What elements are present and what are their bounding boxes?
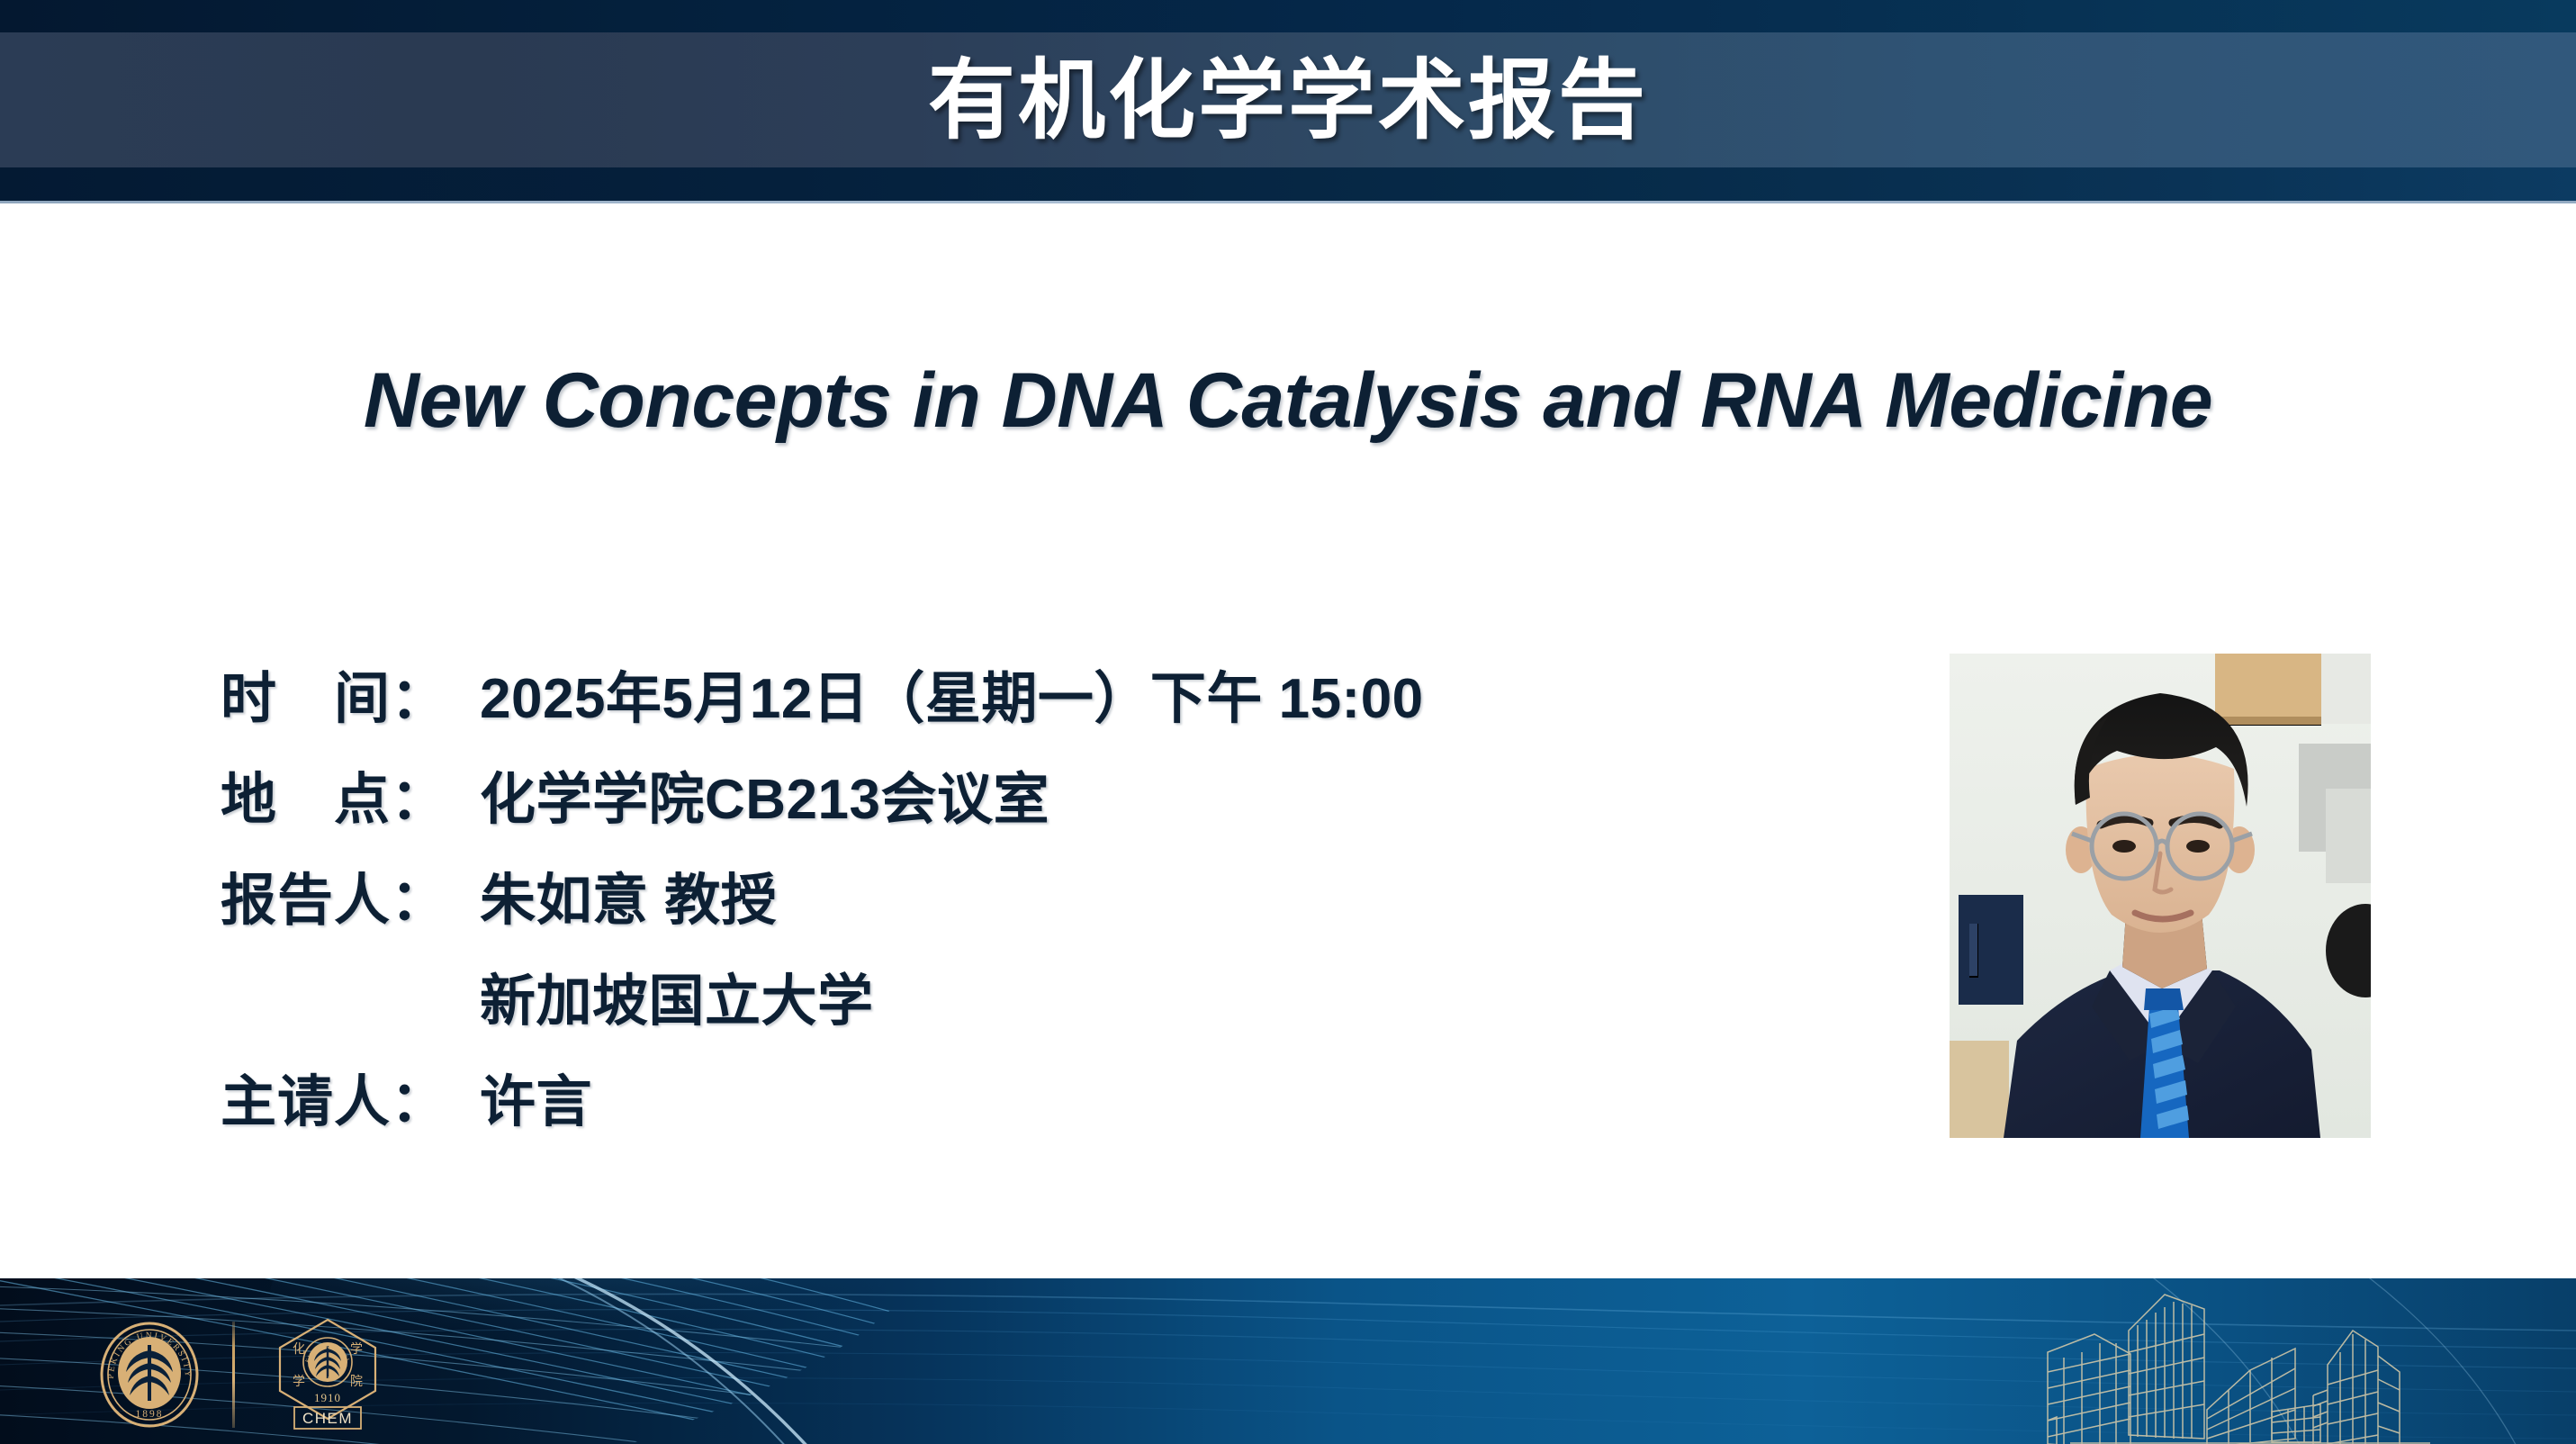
detail-label-host: 主请人： xyxy=(221,1056,480,1137)
header-banner: 有机化学学术报告 xyxy=(0,0,2576,203)
detail-row-host: 主请人： 许言 xyxy=(221,1056,1796,1157)
speaker-photo xyxy=(1950,654,2371,1138)
detail-row-time: 时 间： 2025年5月12日（星期一）下午 15:00 xyxy=(221,653,1796,754)
peking-university-seal-logo: PEKING UNIVERSITY 1898 xyxy=(99,1322,200,1428)
detail-value-speaker: 朱如意 教授 xyxy=(480,854,777,935)
chemistry-college-logo: PEKING UNIVERSITY 1898 化 学 学 院 1910 CHEM xyxy=(271,1317,384,1432)
logo-divider xyxy=(232,1322,235,1428)
detail-value-speaker-affiliation: 新加坡国立大学 xyxy=(480,955,874,1036)
footer-background xyxy=(0,1278,2576,1444)
footer-logo-group: PEKING UNIVERSITY 1898 PEKING UNIVERSITY… xyxy=(99,1322,384,1428)
detail-value-location: 化学学院CB213会议室 xyxy=(480,754,1049,835)
chem-logo-char-2: 学 xyxy=(350,1341,363,1356)
detail-label-time: 时 间： xyxy=(221,653,480,734)
detail-row-speaker-affiliation: 报告人： 新加坡国立大学 xyxy=(221,955,1796,1056)
talk-details: 时 间： 2025年5月12日（星期一）下午 15:00 地 点： 化学学院CB… xyxy=(221,653,1796,1157)
chem-logo-year: 1910 xyxy=(314,1391,341,1404)
chem-logo-char-3: 学 xyxy=(293,1374,305,1388)
detail-row-location: 地 点： 化学学院CB213会议室 xyxy=(221,754,1796,854)
chem-logo-char-1: 化 xyxy=(293,1341,305,1356)
detail-value-time: 2025年5月12日（星期一）下午 15:00 xyxy=(480,653,1424,734)
chem-logo-char-4: 院 xyxy=(350,1374,363,1388)
banner-divider-rule xyxy=(0,201,2576,203)
detail-label-speaker: 报告人： xyxy=(221,854,480,935)
footer-banner xyxy=(0,1278,2576,1444)
detail-label-location: 地 点： xyxy=(221,754,480,835)
banner-top-stripe xyxy=(0,0,2576,32)
speaker-photo-illustration xyxy=(1950,654,2371,1138)
detail-row-speaker: 报告人： 朱如意 教授 xyxy=(221,854,1796,955)
chem-logo-label: CHEM xyxy=(302,1410,353,1427)
svg-text:1898: 1898 xyxy=(320,1376,335,1382)
banner-title: 有机化学学术报告 xyxy=(0,29,2576,171)
banner-bottom-stripe xyxy=(0,167,2576,201)
pku-seal-year: 1898 xyxy=(136,1409,164,1420)
detail-value-host: 许言 xyxy=(480,1056,592,1137)
talk-title: New Concepts in DNA Catalysis and RNA Me… xyxy=(0,358,2576,444)
